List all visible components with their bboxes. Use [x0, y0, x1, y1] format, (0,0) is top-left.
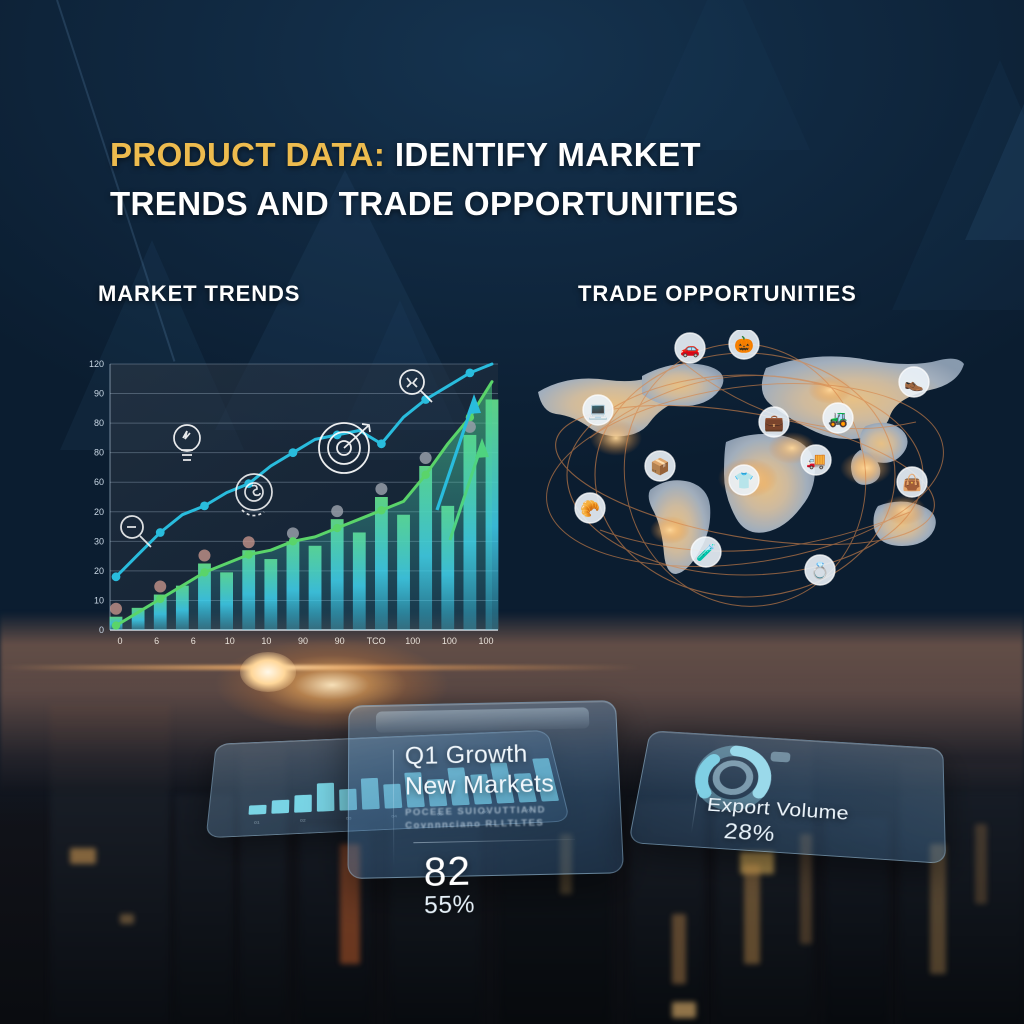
- svg-text:💻: 💻: [588, 403, 608, 420]
- headline-rest: IDENTIFY MARKET: [385, 136, 701, 173]
- svg-text:📦: 📦: [650, 457, 670, 476]
- package-icon: 📦: [645, 451, 675, 481]
- mini-bar: [317, 783, 335, 812]
- svg-text:🚗: 🚗: [680, 341, 700, 358]
- svg-text:6: 6: [154, 636, 159, 646]
- scatter-marker: [154, 581, 166, 593]
- scatter-marker: [331, 505, 343, 517]
- scatter-marker: [110, 603, 122, 615]
- x-axis-tick-labels: 06610109090TCO100100100: [117, 636, 493, 646]
- svg-text:🚜: 🚜: [828, 411, 848, 428]
- line-marker: [289, 537, 297, 545]
- svg-text:01: 01: [254, 820, 261, 825]
- y-axis-tick-labels: 12090808060203020100: [89, 359, 104, 635]
- truck-icon: 🚚: [801, 445, 831, 475]
- q1-growth-card[interactable]: Q1 Growth New Markets POCEEE SUIOVUTTIAN…: [347, 700, 624, 879]
- svg-text:30: 30: [94, 536, 104, 546]
- svg-text:100: 100: [442, 636, 457, 646]
- svg-text:10: 10: [261, 636, 271, 646]
- svg-text:0: 0: [99, 625, 104, 635]
- sun-lens-streak: [0, 665, 640, 670]
- svg-text:👞: 👞: [904, 375, 924, 392]
- svg-text:90: 90: [335, 636, 345, 646]
- svg-text:🧪: 🧪: [696, 544, 716, 562]
- mini-bar: [271, 800, 289, 814]
- svg-text:60: 60: [94, 477, 104, 487]
- card-title-line-2: New Markets: [405, 768, 611, 803]
- ring-icon: 💍: [805, 555, 835, 585]
- svg-text:120: 120: [89, 359, 104, 369]
- car-icon: 🚗: [675, 333, 705, 363]
- export-volume-card[interactable]: Export Volume 28%: [628, 730, 946, 864]
- bag-icon: 👜: [897, 467, 927, 497]
- svg-text:90: 90: [298, 636, 308, 646]
- bread-icon: 🥐: [575, 493, 605, 523]
- headline: PRODUCT DATA: IDENTIFY MARKET TRENDS AND…: [110, 130, 910, 228]
- svg-text:🚚: 🚚: [806, 453, 826, 470]
- market-trends-chart: 12090808060203020100 06610109090TCO10010…: [82, 340, 512, 650]
- svg-text:100: 100: [405, 636, 420, 646]
- svg-text:0: 0: [117, 636, 122, 646]
- scatter-marker: [420, 452, 432, 464]
- svg-text:20: 20: [94, 507, 104, 517]
- svg-text:💍: 💍: [810, 561, 830, 580]
- svg-text:10: 10: [94, 595, 104, 605]
- line-marker: [156, 595, 164, 603]
- line-marker: [245, 550, 253, 558]
- trade-opportunities-map: 🚗🎃💻👞🚜📦👕💼🚚🥐🧪💍👜: [530, 330, 970, 620]
- line-marker: [112, 572, 121, 581]
- line-marker: [200, 568, 208, 576]
- infographic-canvas: PRODUCT DATA: IDENTIFY MARKET TRENDS AND…: [0, 0, 1024, 1024]
- briefcase-icon: 💼: [759, 407, 789, 437]
- headline-line-2: TRENDS AND TRADE OPPORTUNITIES: [110, 179, 910, 228]
- headline-line-1: PRODUCT DATA: IDENTIFY MARKET: [110, 130, 910, 179]
- scatter-marker: [375, 483, 387, 495]
- card-metric-value: 82: [424, 849, 475, 896]
- scatter-marker: [243, 536, 255, 548]
- card-title-line-1: Q1 Growth: [405, 738, 609, 772]
- chart-svg: 12090808060203020100 06610109090TCO10010…: [82, 340, 512, 650]
- svg-text:👕: 👕: [734, 472, 754, 490]
- produce-icon: 🎃: [729, 330, 759, 359]
- svg-text:6: 6: [191, 636, 196, 646]
- sun-core: [240, 652, 296, 692]
- svg-text:90: 90: [94, 389, 104, 399]
- svg-text:80: 80: [94, 448, 104, 458]
- machinery-icon: 🚜: [823, 403, 853, 433]
- scatter-marker: [198, 550, 210, 562]
- svg-text:02: 02: [300, 818, 306, 823]
- svg-text:80: 80: [94, 418, 104, 428]
- shoe-icon: 👞: [899, 367, 929, 397]
- section-heading-market-trends: MARKET TRENDS: [98, 281, 300, 307]
- laptop-icon: 💻: [583, 395, 613, 425]
- svg-text:100: 100: [478, 636, 493, 646]
- line-marker: [377, 506, 385, 514]
- mini-bar: [294, 795, 312, 813]
- svg-text:🎃: 🎃: [734, 335, 754, 354]
- svg-text:🥐: 🥐: [580, 500, 600, 518]
- line-marker: [421, 471, 429, 479]
- line-marker: [333, 524, 341, 532]
- tshirt-icon: 👕: [729, 465, 759, 495]
- card-header-highlight: [376, 707, 590, 732]
- line-marker: [377, 439, 386, 448]
- svg-text:20: 20: [94, 566, 104, 576]
- card-divider: [413, 839, 575, 843]
- mini-bar: [248, 805, 266, 815]
- svg-text:TCO: TCO: [367, 636, 386, 646]
- headline-accent: PRODUCT DATA:: [110, 136, 385, 173]
- world-map-svg: 🚗🎃💻👞🚜📦👕💼🚚🥐🧪💍👜: [530, 330, 970, 620]
- line-marker: [465, 368, 474, 377]
- svg-text:👜: 👜: [902, 473, 922, 492]
- line-marker: [200, 501, 209, 510]
- line-marker: [112, 621, 120, 629]
- svg-text:💼: 💼: [764, 415, 784, 432]
- line-marker: [289, 448, 298, 457]
- card-accent-line: [393, 750, 394, 867]
- card-metric-percent: 55%: [424, 891, 475, 921]
- svg-text:10: 10: [225, 636, 235, 646]
- line-marker: [156, 528, 165, 537]
- section-heading-trade-opportunities: TRADE OPPORTUNITIES: [578, 281, 857, 307]
- chemical-icon: 🧪: [691, 537, 721, 567]
